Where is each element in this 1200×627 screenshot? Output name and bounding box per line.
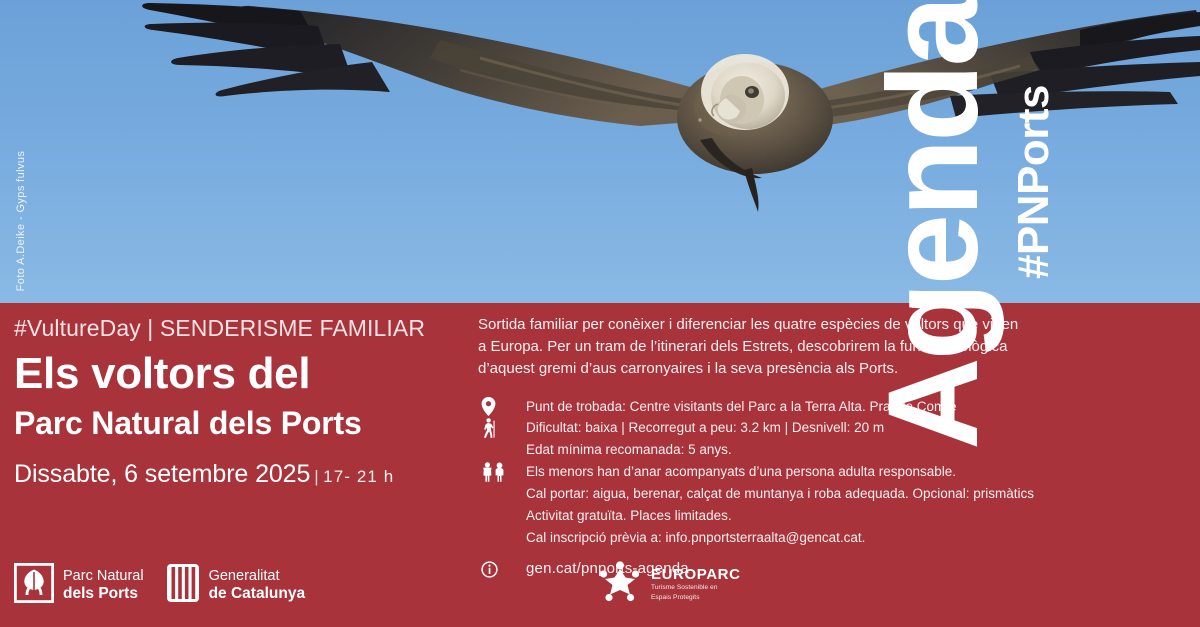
detail-text: Cal portar: aigua, berenar, calçat de mu…: [478, 483, 1038, 505]
map-pin-icon: [478, 396, 526, 416]
detail-text: Activitat gratuïta. Places limitades.: [478, 505, 1038, 527]
info-circle-icon: [478, 560, 526, 578]
title-line-2: Parc Natural dels Ports: [14, 407, 474, 441]
vulture-photo: Foto A.Deike - Gyps fulvus: [0, 0, 1200, 304]
detail-row: Punt de trobada: Centre visitants del Pa…: [478, 396, 1038, 418]
logo-bar: Parc Natural dels Ports Generalitat de C…: [14, 563, 305, 608]
hiker-icon: [478, 417, 526, 438]
generalitat-logo: Generalitat de Catalunya: [166, 563, 305, 608]
details-list: Punt de trobada: Centre visitants del Pa…: [478, 396, 1038, 580]
family-icon: [478, 461, 526, 482]
vulture-illustration: [0, 0, 1200, 304]
photo-credit: Foto A.Deike - Gyps fulvus: [15, 121, 27, 304]
europarc-logo-text: EUROPARC Turisme Sostenible en Espais Pr…: [651, 566, 741, 603]
headline-column: #VultureDay | SENDERISME FAMILIAR Els vo…: [14, 315, 474, 489]
description-paragraph: Sortida familiar per conèixer i diferenc…: [478, 314, 1023, 381]
europarc-sub-line-2: Espais Protegits: [651, 593, 741, 603]
event-date: Dissabte, 6 setembre 2025: [14, 460, 310, 488]
event-time: 17- 21 h: [323, 467, 394, 486]
generalitat-logo-line-1: Generalitat: [209, 568, 305, 585]
detail-text: Cal inscripció prèvia a: info.pnportster…: [478, 527, 1038, 549]
parc-natural-logo-text: Parc Natural dels Ports: [63, 568, 144, 602]
leaf-in-square-icon: [14, 563, 54, 608]
detail-text: Els menors han d’anar acompanyats d’una …: [526, 461, 956, 483]
dateline: Dissabte, 6 setembre 2025| 17- 21 h: [14, 460, 474, 489]
generalitat-logo-text: Generalitat de Catalunya: [209, 568, 305, 602]
parc-logo-line-1: Parc Natural: [63, 568, 144, 585]
europarc-starburst-icon: [597, 560, 643, 609]
details-column: Sortida familiar per conèixer i diferenc…: [478, 314, 1038, 580]
poster: Foto A.Deike - Gyps fulvus #VultureDay |…: [0, 0, 1200, 627]
detail-text: Dificultat: baixa | Recorregut a peu: 3.…: [526, 417, 884, 439]
europarc-logo: EUROPARC Turisme Sostenible en Espais Pr…: [597, 560, 741, 609]
detail-row: Els menors han d’anar acompanyats d’una …: [478, 461, 1038, 483]
europarc-name: EUROPARC: [651, 566, 741, 583]
europarc-sub-line-1: Turisme Sostenible en: [651, 583, 741, 593]
catalan-flag-icon: [166, 563, 200, 608]
detail-text: Edat mínima recomanada: 5 anys.: [478, 439, 1038, 461]
kicker-line: #VultureDay | SENDERISME FAMILIAR: [14, 315, 474, 342]
date-separator: |: [314, 467, 318, 486]
generalitat-logo-line-2: de Catalunya: [209, 585, 305, 603]
detail-row: Dificultat: baixa | Recorregut a peu: 3.…: [478, 417, 1038, 439]
parc-natural-logo: Parc Natural dels Ports: [14, 563, 144, 608]
title-line-1: Els voltors del: [14, 351, 474, 397]
detail-text: Punt de trobada: Centre visitants del Pa…: [526, 396, 956, 418]
website-row[interactable]: gen.cat/pnports-agenda: [478, 560, 1038, 580]
parc-logo-line-2: dels Ports: [63, 585, 144, 603]
